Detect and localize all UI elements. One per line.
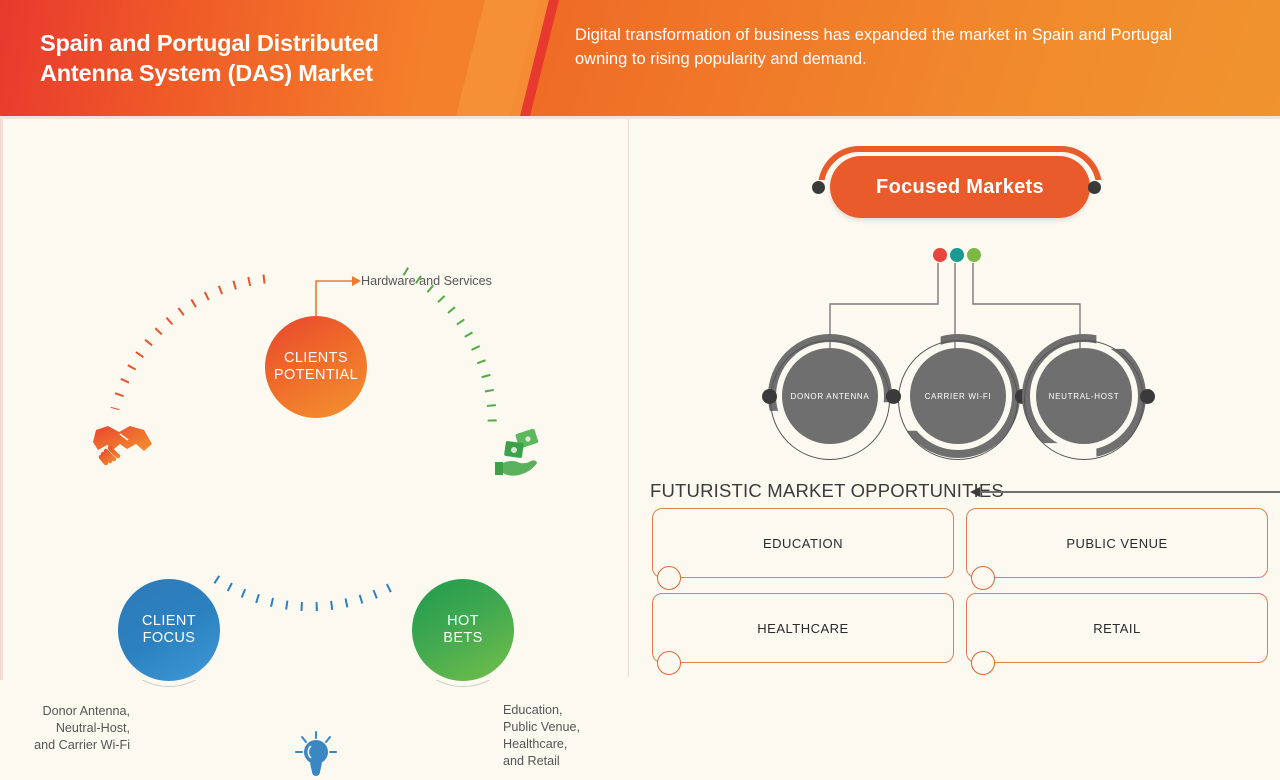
node-label-line2: BETS xyxy=(443,630,482,646)
opportunity-knob-healthcare xyxy=(657,651,681,675)
market-circle-label: CARRIER WI-FI xyxy=(925,392,992,401)
focused-markets-left-dot xyxy=(812,181,825,194)
callout-hot-bets-detail: Education, Public Venue, Healthcare, and… xyxy=(503,702,623,770)
page-title: Spain and Portugal Distributed Antenna S… xyxy=(40,28,470,88)
opportunity-label: RETAIL xyxy=(1093,621,1141,636)
futuristic-opportunities-title: FUTURISTIC MARKET OPPORTUNITIES xyxy=(650,480,1004,502)
focused-markets-pill[interactable]: Focused Markets xyxy=(830,156,1090,218)
lightbulb-icon xyxy=(293,730,339,780)
panel-divider xyxy=(628,119,629,677)
market-circle-label: DONOR ANTENNA xyxy=(791,392,870,401)
market-dot-left-1 xyxy=(762,389,777,404)
node-client-focus[interactable]: CLIENT FOCUS xyxy=(118,579,220,681)
callout-line: Healthcare, xyxy=(503,736,623,753)
focused-markets-right-dot xyxy=(1088,181,1101,194)
opportunity-knob-education xyxy=(657,566,681,590)
market-circle-neutral-host[interactable]: NEUTRAL-HOST xyxy=(1022,334,1146,458)
opportunity-label: HEALTHCARE xyxy=(757,621,848,636)
opportunity-box-healthcare[interactable]: HEALTHCARE xyxy=(652,593,954,663)
market-circle-carrier-wifi[interactable]: CARRIER WI-FI xyxy=(896,334,1020,458)
futuristic-title-arrow xyxy=(960,478,1280,502)
market-circle-core: DONOR ANTENNA xyxy=(782,348,878,444)
opportunity-box-education[interactable]: EDUCATION xyxy=(652,508,954,578)
money-hand-icon xyxy=(493,429,545,479)
market-dot-mid xyxy=(886,389,901,404)
teal-dot xyxy=(950,248,964,262)
node-label-line1: CLIENT xyxy=(142,613,196,629)
callout-line: Neutral-Host, xyxy=(8,720,130,737)
callout-line: and Retail xyxy=(503,753,623,770)
node-hot-bets[interactable]: HOT BETS xyxy=(412,579,514,681)
opportunity-label: PUBLIC VENUE xyxy=(1066,536,1167,551)
market-circle-donor-antenna[interactable]: DONOR ANTENNA xyxy=(768,334,892,458)
callout-line: and Carrier Wi-Fi xyxy=(8,737,130,754)
handshake-icon xyxy=(92,418,156,470)
node-label-line2: FOCUS xyxy=(143,630,196,646)
node-clients-potential[interactable]: CLIENTS POTENTIAL xyxy=(265,316,367,418)
market-circle-label: NEUTRAL-HOST xyxy=(1049,392,1120,401)
callout-client-focus-detail: Donor Antenna, Neutral-Host, and Carrier… xyxy=(8,703,130,754)
infographic-root: Spain and Portugal Distributed Antenna S… xyxy=(0,0,1280,680)
header-subtitle: Digital transformation of business has e… xyxy=(575,24,1225,72)
callout-line: Education, xyxy=(503,702,623,719)
header-banner: Spain and Portugal Distributed Antenna S… xyxy=(0,0,1280,116)
red-dot xyxy=(933,248,947,262)
market-circle-core: NEUTRAL-HOST xyxy=(1036,348,1132,444)
node-label-line2: POTENTIAL xyxy=(274,367,358,383)
opportunity-box-public-venue[interactable]: PUBLIC VENUE xyxy=(966,508,1268,578)
focused-markets-group: Focused Markets xyxy=(800,140,1120,250)
node-label-line1: CLIENTS xyxy=(284,350,348,366)
opportunity-label: EDUCATION xyxy=(763,536,843,551)
opportunity-box-retail[interactable]: RETAIL xyxy=(966,593,1268,663)
green-dot xyxy=(967,248,981,262)
callout-line: Donor Antenna, xyxy=(8,703,130,720)
market-dot-right xyxy=(1140,389,1155,404)
opportunity-knob-public-venue xyxy=(971,566,995,590)
callout-line: Public Venue, xyxy=(503,719,623,736)
callout-hardware-services: Hardware and Services xyxy=(361,273,492,290)
opportunity-knob-retail xyxy=(971,651,995,675)
node-label-line1: HOT xyxy=(447,613,479,629)
market-circle-core: CARRIER WI-FI xyxy=(910,348,1006,444)
focused-markets-label: Focused Markets xyxy=(876,176,1044,199)
